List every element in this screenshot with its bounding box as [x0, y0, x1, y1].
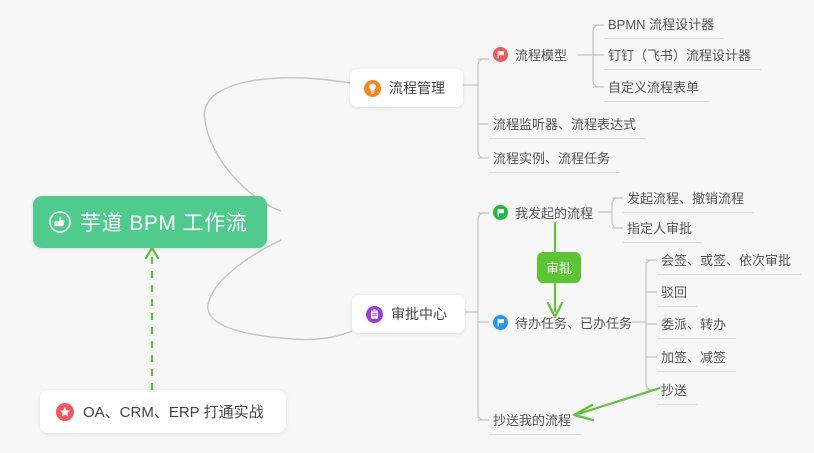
node-label-process-model: 流程模型: [515, 45, 567, 64]
node-cc-to-me[interactable]: 抄送我的流程: [489, 407, 581, 435]
node-add-remove-sign[interactable]: 加签、减签: [657, 344, 736, 372]
branch-label-process-management: 流程管理: [389, 78, 445, 98]
node-custom-process-form[interactable]: 自定义流程表单: [604, 74, 709, 102]
node-label-my-started-processes: 我发起的流程: [515, 203, 593, 222]
thumbs-up-icon: [49, 211, 71, 233]
flag-icon: [493, 205, 508, 220]
branch-node-approval-center[interactable]: 审批中心: [352, 295, 465, 333]
node-listener-expression[interactable]: 流程监听器、流程表达式: [489, 111, 646, 139]
node-start-cancel-process[interactable]: 发起流程、撤销流程: [623, 185, 754, 213]
lightbulb-icon: [364, 80, 381, 97]
node-label-assignee-approval: 指定人审批: [627, 218, 692, 237]
star-icon: [56, 403, 74, 421]
node-assignee-approval[interactable]: 指定人审批: [623, 215, 702, 243]
node-todo-done-tasks[interactable]: 待办任务、已办任务: [489, 310, 642, 337]
link-model-trunk: [593, 25, 599, 87]
flag-icon: [493, 315, 508, 330]
link-ac-trunk: [478, 213, 484, 420]
floating-node-label: OA、CRM、ERP 打通实战: [83, 401, 264, 422]
node-label-reject: 驳回: [661, 282, 687, 301]
root-label: 芋道 BPM 工作流: [80, 207, 247, 237]
node-label-todo-done-tasks: 待办任务、已办任务: [515, 313, 632, 332]
node-label-countersign-modes: 会签、或签、依次审批: [661, 250, 791, 269]
node-label-custom-process-form: 自定义流程表单: [608, 77, 699, 96]
annotation-cc-arrow: [574, 388, 660, 420]
branch-label-approval-center: 审批中心: [391, 304, 447, 324]
node-label-instance-task: 流程实例、流程任务: [493, 148, 610, 167]
node-instance-task[interactable]: 流程实例、流程任务: [489, 145, 620, 173]
link-pm-trunk: [478, 59, 484, 158]
link-root-to-process-management: [204, 78, 350, 211]
node-dingtalk-feishu-designer[interactable]: 钉钉（飞书）流程设计器: [604, 42, 761, 70]
node-my-started-processes[interactable]: 我发起的流程: [489, 200, 603, 227]
node-label-cc: 抄送: [661, 380, 687, 399]
node-label-bpmn-designer: BPMN 流程设计器: [608, 14, 714, 33]
node-label-add-remove-sign: 加签、减签: [661, 347, 726, 366]
node-label-dingtalk-feishu-designer: 钉钉（飞书）流程设计器: [608, 45, 751, 64]
node-bpmn-designer[interactable]: BPMN 流程设计器: [604, 11, 724, 39]
annotation-badge-approval: 审批: [537, 252, 581, 283]
node-label-delegate-transfer: 委派、转办: [661, 314, 726, 333]
flag-icon: [493, 47, 508, 62]
node-label-start-cancel-process: 发起流程、撤销流程: [627, 188, 744, 207]
branch-node-process-management[interactable]: 流程管理: [350, 69, 463, 107]
mindmap-canvas: 芋道 BPM 工作流 流程管理 流程模型 BPMN 流程设计器 钉钉（飞书）流: [0, 0, 814, 453]
link-mine-trunk: [612, 198, 618, 228]
node-process-model[interactable]: 流程模型: [489, 42, 577, 69]
root-node[interactable]: 芋道 BPM 工作流: [33, 196, 267, 248]
link-todo-trunk: [646, 260, 652, 390]
node-countersign-modes[interactable]: 会签、或签、依次审批: [657, 247, 801, 275]
node-delegate-transfer[interactable]: 委派、转办: [657, 311, 736, 339]
node-label-listener-expression: 流程监听器、流程表达式: [493, 114, 636, 133]
link-root-to-approval-center: [208, 240, 352, 340]
floating-node-integration-practice[interactable]: OA、CRM、ERP 打通实战: [40, 390, 286, 433]
node-label-cc-to-me: 抄送我的流程: [493, 410, 571, 429]
node-cc[interactable]: 抄送: [657, 377, 697, 405]
node-reject[interactable]: 驳回: [657, 279, 697, 307]
clipboard-icon: [366, 306, 383, 323]
annotation-dashed-arrow: [146, 248, 158, 390]
